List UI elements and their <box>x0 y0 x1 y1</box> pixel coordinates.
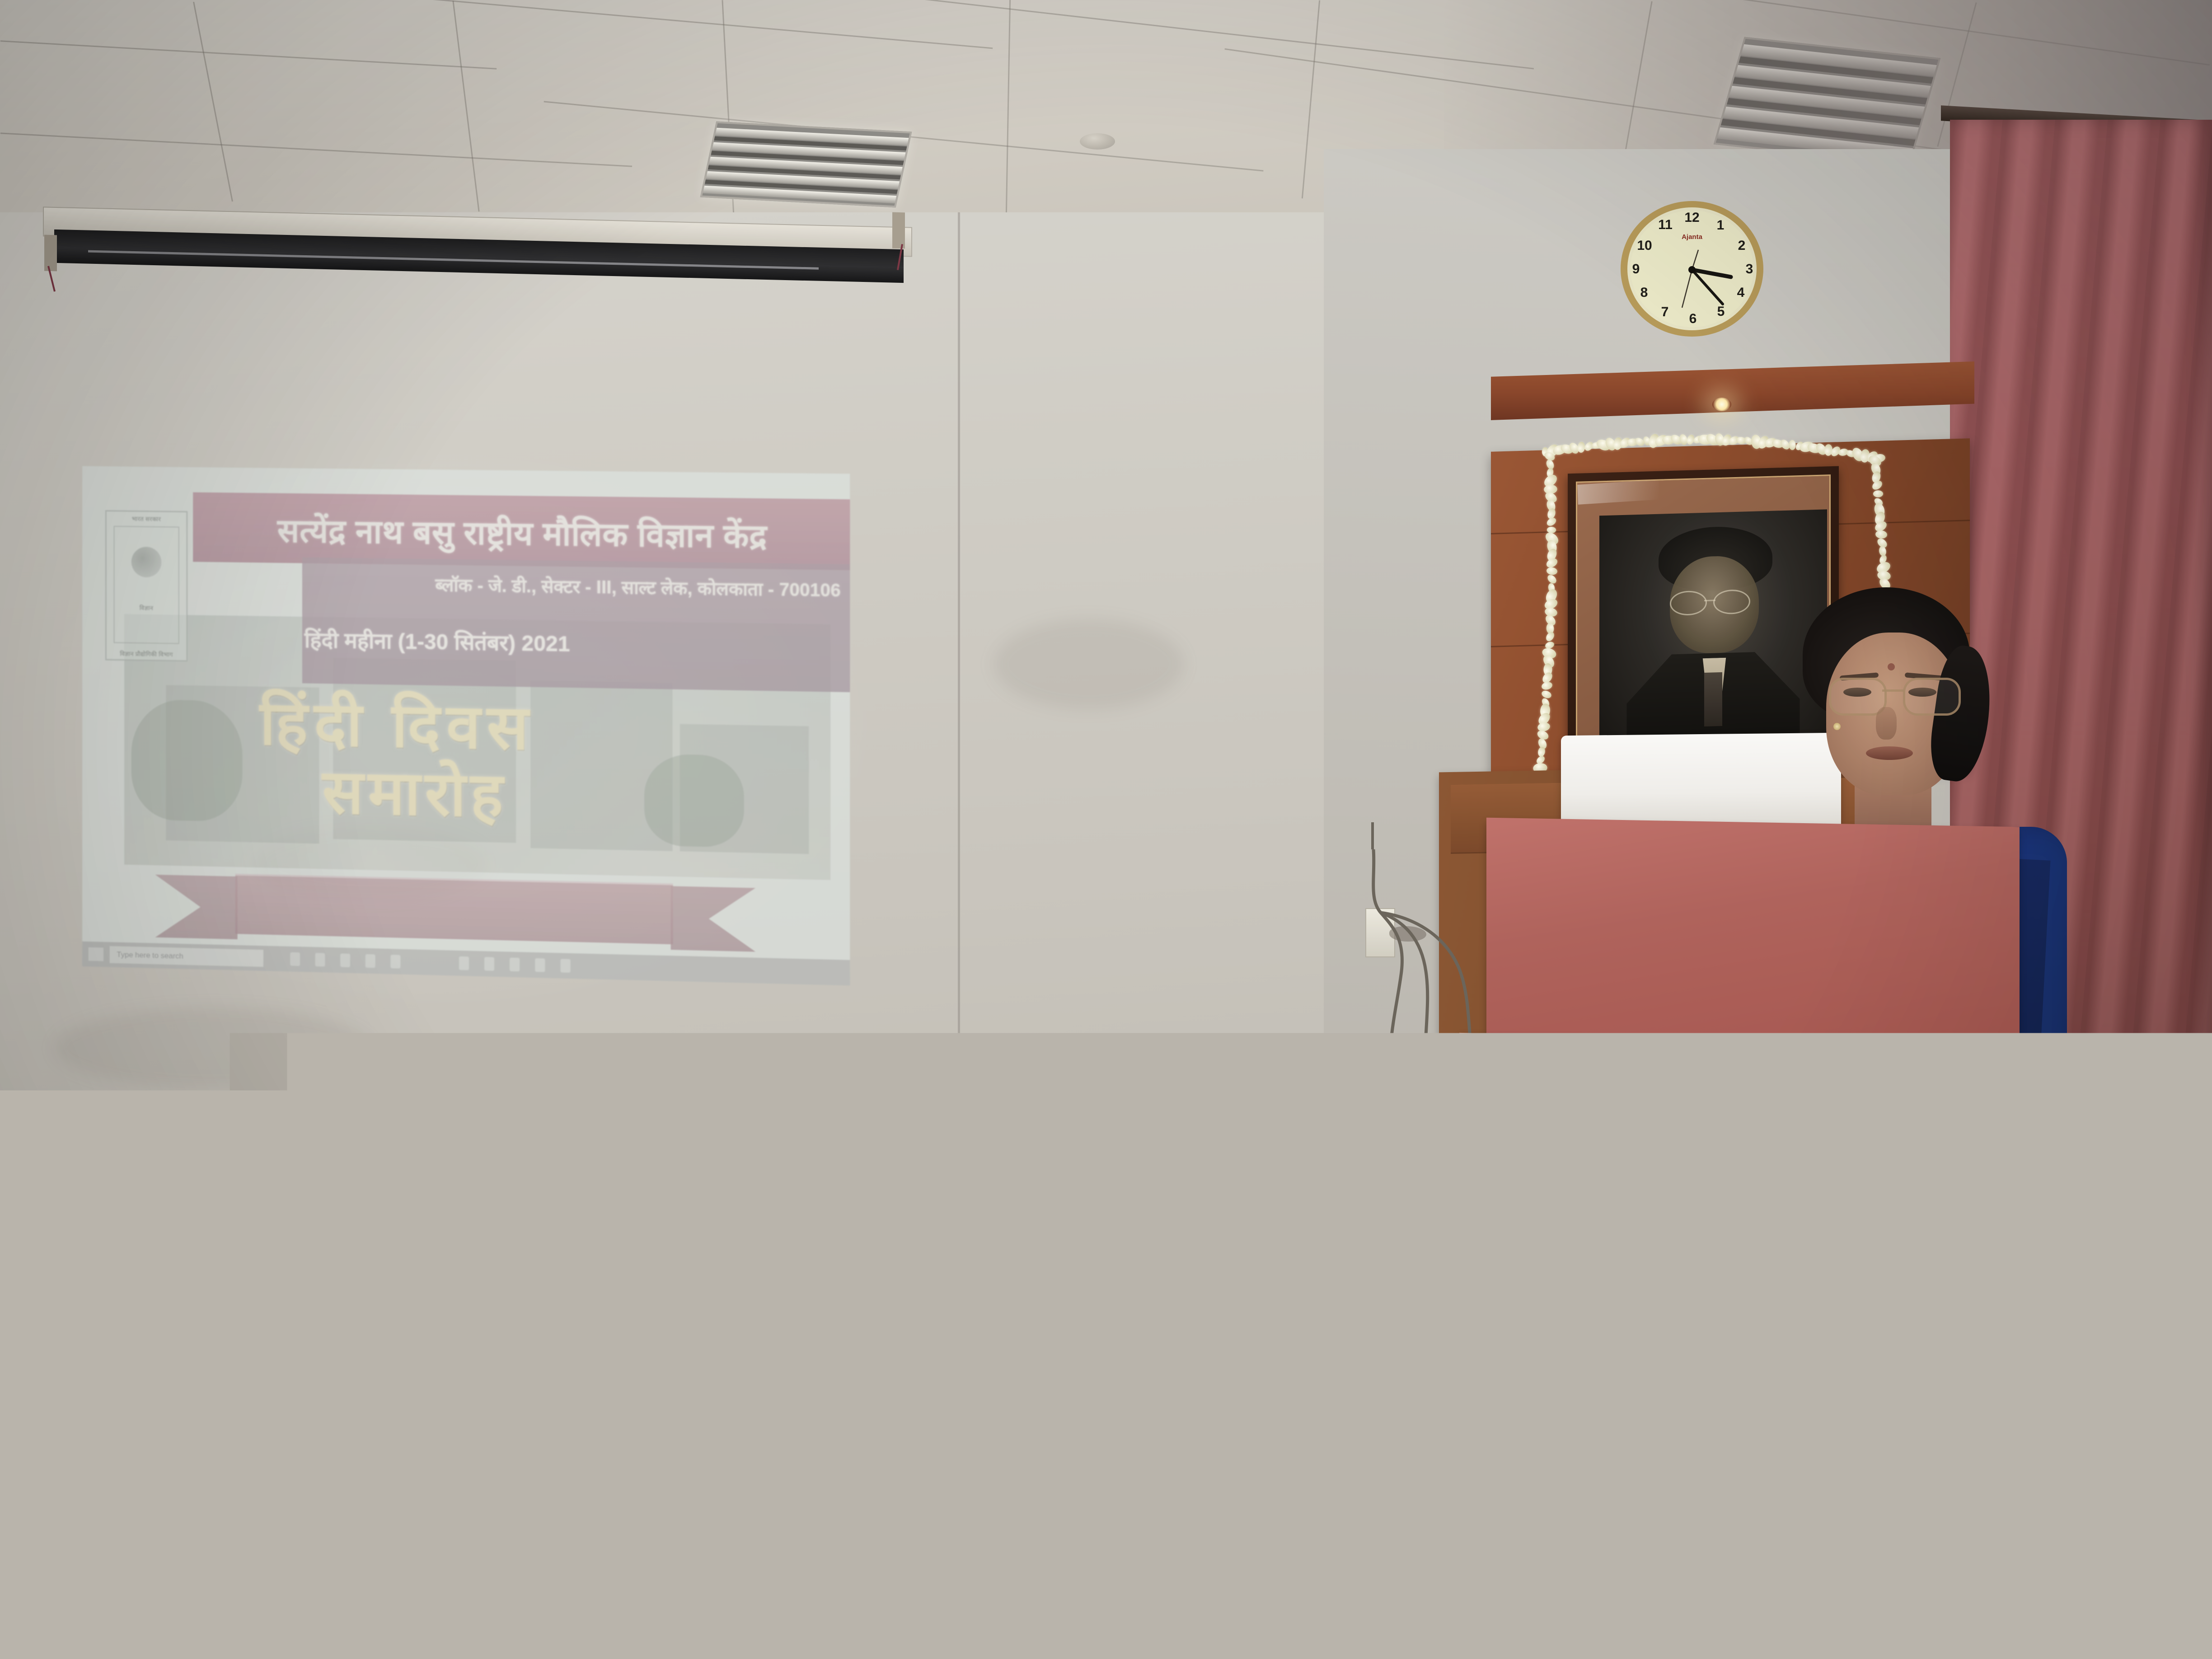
tray-icon-volume[interactable] <box>484 957 494 971</box>
svg-text:Ajanta: Ajanta <box>1682 233 1703 241</box>
taskbar-icon-app[interactable] <box>390 955 400 968</box>
projected-slide: सत्येंद्र नाथ बसु राष्ट्रीय मौलिक विज्ञा… <box>82 466 850 986</box>
wall-clock: 12 1 2 3 4 5 6 7 8 9 10 11 Ajanta <box>1602 197 1782 346</box>
earring-icon <box>1833 723 1841 730</box>
ribbon-tail-left <box>155 875 238 939</box>
slide-org-logo: भारत सरकार विज्ञान विज्ञान प्रौद्योगिकी … <box>105 510 187 661</box>
bindi-icon <box>1888 663 1895 670</box>
slide-ribbon-banner <box>155 872 756 954</box>
podium-slanted-top <box>1486 818 2020 1058</box>
logo-sub: विज्ञान <box>107 603 187 612</box>
taskbar-search-input[interactable]: Type here to search <box>110 946 263 967</box>
screen-bracket-right <box>892 212 905 249</box>
svg-text:5: 5 <box>1717 304 1725 319</box>
tray-icon-clock[interactable] <box>535 958 545 972</box>
ceiling-dome-speaker-icon <box>1080 133 1115 150</box>
svg-text:11: 11 <box>1658 217 1673 232</box>
logo-footer: विज्ञान प्रौद्योगिकी विभाग <box>107 649 187 659</box>
tray-icon-battery[interactable] <box>510 958 520 972</box>
ribbon-body <box>235 874 673 944</box>
taskbar-icon-cortana[interactable] <box>290 952 300 966</box>
screen-bracket-left <box>44 235 57 272</box>
taskbar-app-icons[interactable] <box>290 952 400 969</box>
speaker-nose <box>1876 707 1897 740</box>
ribbon-tail-right <box>671 886 756 951</box>
slide-event-title-line2: समारोह <box>322 747 507 834</box>
svg-text:10: 10 <box>1637 238 1652 253</box>
taskbar-system-tray[interactable] <box>459 956 571 973</box>
logo-caption: भारत सरकार <box>107 514 187 523</box>
taskbar-icon-taskview[interactable] <box>315 953 325 966</box>
svg-text:1: 1 <box>1717 218 1725 233</box>
svg-text:4: 4 <box>1737 285 1745 300</box>
svg-text:3: 3 <box>1746 262 1753 276</box>
tray-icon-network[interactable] <box>459 956 469 970</box>
tray-icon-notifications[interactable] <box>561 959 571 973</box>
ceiling-light-fixture-left <box>700 122 912 208</box>
svg-text:7: 7 <box>1661 305 1669 319</box>
speaker-lips <box>1866 746 1913 760</box>
svg-text:9: 9 <box>1632 262 1640 276</box>
taskbar-icon-explorer[interactable] <box>340 953 350 967</box>
slide-org-title: सत्येंद्र नाथ बसु राष्ट्रीय मौलिक विज्ञा… <box>202 495 845 571</box>
svg-text:8: 8 <box>1640 285 1648 300</box>
svg-text:2: 2 <box>1738 238 1746 253</box>
svg-text:12: 12 <box>1684 210 1699 225</box>
windows-start-icon[interactable] <box>89 947 103 961</box>
floor-shadow <box>0 1154 633 1659</box>
taskbar-icon-browser[interactable] <box>366 954 375 968</box>
eyeglasses-icon <box>1829 678 1960 713</box>
photo-scene: सत्येंद्र नाथ बसु राष्ट्रीय मौलिक विज्ञा… <box>0 0 2212 1659</box>
slide-month-line: हिंदी महीना (1-30 सितंबर) 2021 <box>305 623 666 661</box>
podium-cables <box>1902 1035 2137 1622</box>
spotlight-icon <box>1712 398 1731 411</box>
svg-text:6: 6 <box>1689 311 1697 326</box>
